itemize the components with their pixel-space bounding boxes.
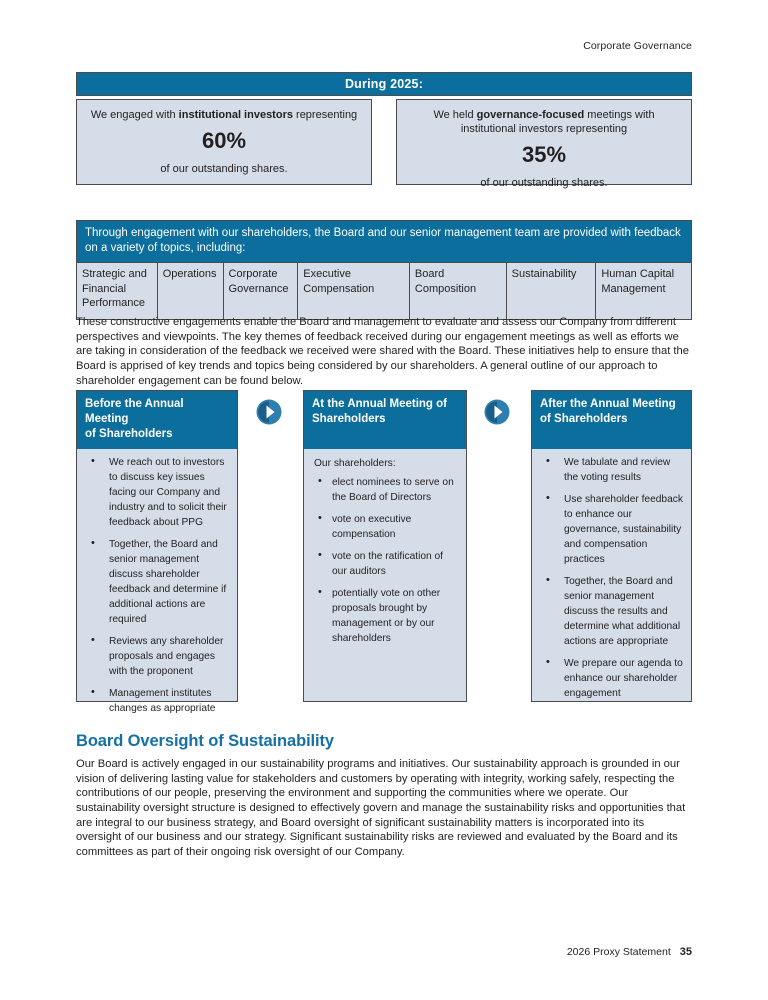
engagement-stat-lead-bold: governance-focused — [477, 109, 585, 121]
feedback-topic-cell: Operations — [157, 262, 223, 319]
engagement-card-bullets: elect nominees to serve on the Board of … — [310, 475, 458, 646]
engagement-stat-value: 60% — [202, 128, 246, 154]
list-item: potentially vote on other proposals brou… — [310, 586, 458, 646]
feedback-topic-cell: Executive Compensation — [297, 262, 409, 319]
engagement-card-at-annual-meeting: At the Annual Meeting of Shareholders Ou… — [303, 390, 467, 702]
list-item: We reach out to investors to discuss key… — [83, 455, 229, 530]
engagement-stat-lead: We engaged with institutional investors … — [79, 108, 369, 122]
engagement-card-title: After the Annual Meeting of Shareholders — [532, 391, 691, 449]
list-item: vote on the ratification of our auditors — [310, 549, 458, 579]
engagement-stat-value: 35% — [522, 142, 566, 168]
engagement-stat-box-governance-focused: We held governance-focused meetings with… — [396, 99, 692, 185]
sustainability-paragraph: Our Board is actively engaged in our sus… — [76, 757, 692, 859]
engagement-card-title: At the Annual Meeting of Shareholders — [304, 391, 466, 449]
engagement-stat-footer: of our outstanding shares. — [480, 177, 607, 189]
engagement-stat-footer: of our outstanding shares. — [160, 163, 287, 175]
engagement-stat-box-institutional-investors: We engaged with institutional investors … — [76, 99, 372, 185]
engagement-stats-banner: During 2025: — [76, 72, 692, 96]
list-item: elect nominees to serve on the Board of … — [310, 475, 458, 505]
engagement-stat-lead: We held governance-focused meetings with… — [397, 108, 691, 136]
list-item: Together, the Board and senior managemen… — [83, 537, 229, 627]
list-item: We prepare our agenda to enhance our sha… — [538, 656, 683, 701]
feedback-topic-cell: Strategic and Financial Performance — [77, 262, 157, 319]
feedback-topic-cell: Corporate Governance — [223, 262, 298, 319]
engagement-stat-lead-prefix: We held — [433, 109, 476, 121]
engagement-card-bullets: We tabulate and review the voting result… — [538, 455, 683, 701]
feedback-topics-table: Through engagement with our shareholders… — [76, 220, 692, 320]
engagement-stats-banner-title: During 2025: — [345, 77, 423, 91]
proxy-statement-page: Corporate Governance During 2025: We eng… — [0, 0, 768, 1000]
engagement-timeline: Before the Annual Meetingof Shareholders… — [76, 390, 692, 702]
engagement-stats-row: We engaged with institutional investors … — [76, 99, 692, 185]
list-item: Together, the Board and senior managemen… — [538, 574, 683, 649]
arrow-right-circle-icon — [484, 399, 510, 425]
feedback-topic-cell: Sustainability — [506, 262, 596, 319]
list-item: We tabulate and review the voting result… — [538, 455, 683, 485]
footer-page-number: 35 — [680, 946, 692, 958]
engagement-card-after-annual-meeting: After the Annual Meeting of Shareholders… — [531, 390, 692, 702]
page-footer: 2026 Proxy Statement35 — [567, 946, 692, 958]
engagement-stat-lead-suffix: representing — [293, 109, 357, 121]
engagement-card-before-annual-meeting: Before the Annual Meetingof Shareholders… — [76, 390, 238, 702]
engagement-card-title: Before the Annual Meetingof Shareholders — [77, 391, 237, 449]
list-item: Management institutes changes as appropr… — [83, 686, 229, 716]
engagement-card-intro: Our shareholders: — [314, 457, 458, 471]
engagement-card-bullets: We reach out to investors to discuss key… — [83, 455, 229, 716]
footer-document-name: 2026 Proxy Statement — [567, 946, 671, 958]
list-item: Use shareholder feedback to enhance our … — [538, 492, 683, 567]
running-head: Corporate Governance — [583, 40, 692, 52]
feedback-topics-row: Strategic and Financial Performance Oper… — [77, 262, 691, 319]
arrow-right-circle-icon — [256, 399, 282, 425]
page-title: Board Oversight of Sustainability — [76, 732, 334, 751]
engagement-stat-lead-bold: institutional investors — [179, 109, 293, 121]
list-item: Reviews any shareholder proposals and en… — [83, 634, 229, 679]
list-item: vote on executive compensation — [310, 512, 458, 542]
engagement-card-body: We reach out to investors to discuss key… — [77, 449, 237, 729]
feedback-topics-header: Through engagement with our shareholders… — [77, 221, 691, 262]
feedback-topic-cell: Board Composition — [409, 262, 506, 319]
engagement-card-body: Our shareholders: elect nominees to serv… — [304, 449, 466, 659]
engagement-paragraph: These constructive engagements enable th… — [76, 315, 692, 388]
feedback-topic-cell: Human Capital Management — [595, 262, 691, 319]
engagement-card-body: We tabulate and review the voting result… — [532, 449, 691, 714]
engagement-stat-lead-prefix: We engaged with — [91, 109, 179, 121]
